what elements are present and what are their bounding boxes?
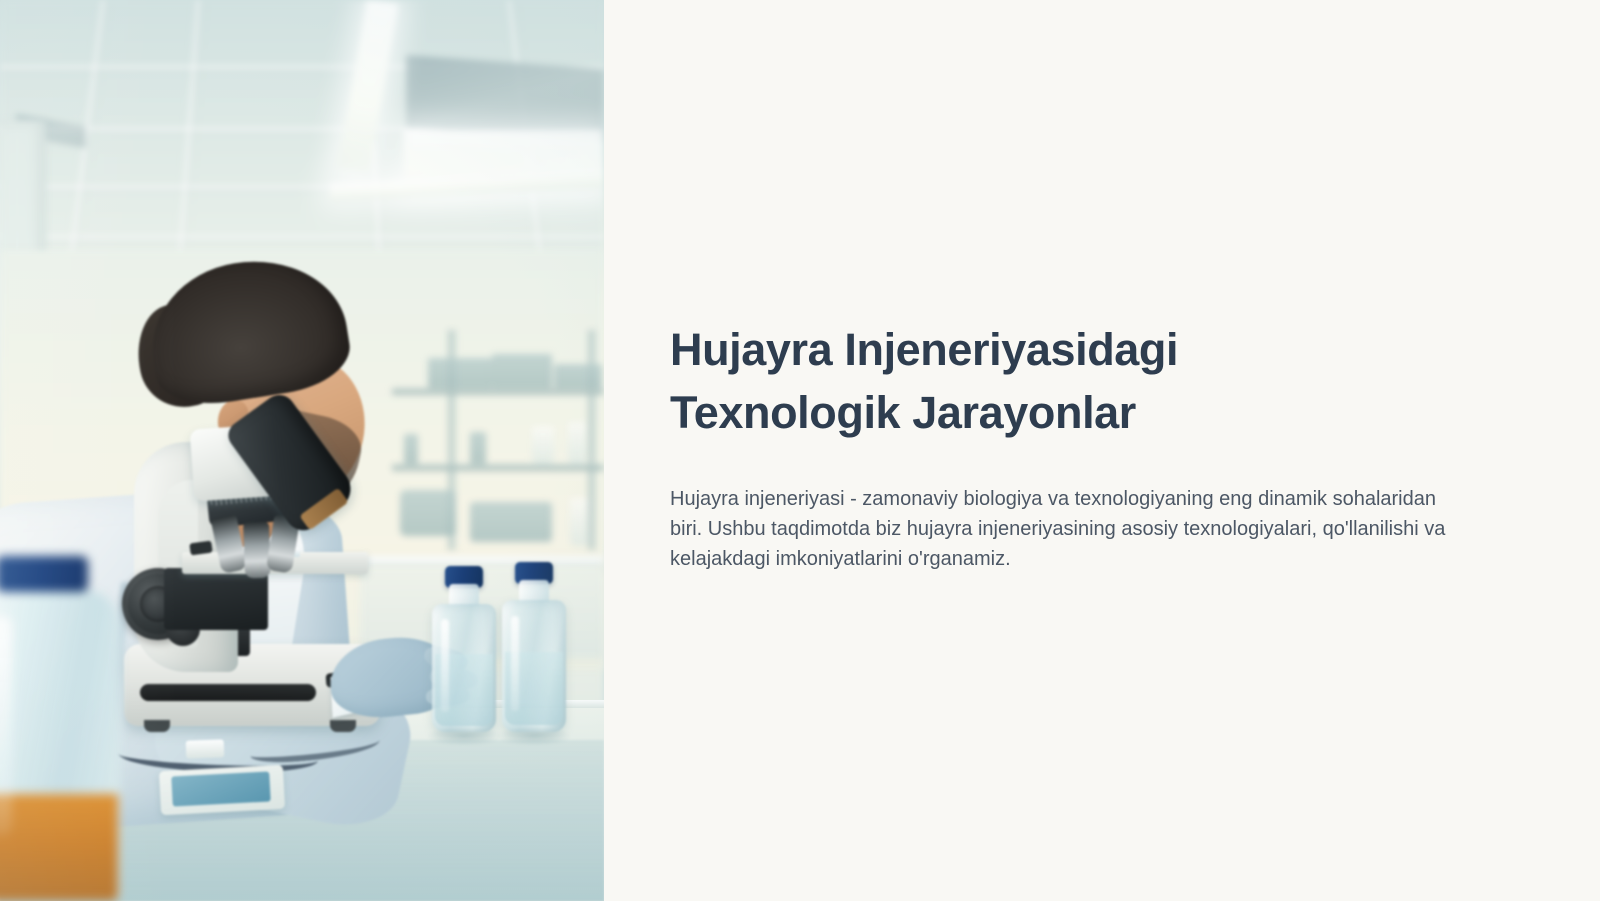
foreground-bottle-highlight (0, 616, 12, 836)
shelf-box (554, 364, 602, 388)
bottle-highlight (511, 616, 519, 711)
microscope-base-stripe (140, 684, 316, 701)
bottle-highlight (441, 619, 449, 711)
bench-clip (186, 739, 225, 758)
lab-printer (470, 502, 552, 542)
shelf-box (428, 358, 492, 388)
reagent-bottle (502, 600, 566, 732)
bottle-neck (449, 584, 480, 606)
reagent-bottle (432, 604, 496, 732)
foreground-reagent-bottle (0, 556, 120, 901)
shelf-box (492, 354, 552, 388)
tablet-screen (171, 771, 270, 806)
shelf-tube (470, 432, 486, 464)
shelf-flask (570, 498, 588, 546)
presentation-slide: Hujayra Injeneriyasidagi Texnologik Jara… (0, 0, 1600, 901)
ceiling (0, 0, 604, 268)
text-block: Hujayra Injeneriyasidagi Texnologik Jara… (670, 318, 1470, 574)
hero-photo (0, 0, 604, 901)
slide-description: Hujayra injeneriyasi - zamonaviy biologi… (670, 484, 1460, 574)
bottle-neck (519, 580, 550, 602)
content-panel: Hujayra Injeneriyasidagi Texnologik Jara… (604, 0, 1600, 901)
foreground-bottle-amber-liquid (0, 794, 118, 901)
ceiling-vent (406, 55, 604, 141)
foreground-bottle-cap (0, 556, 88, 592)
shelf-flask (532, 426, 554, 464)
page-title: Hujayra Injeneriyasidagi Texnologik Jara… (670, 318, 1470, 444)
microscope-objective (243, 522, 271, 579)
shelf-flask (568, 422, 586, 464)
